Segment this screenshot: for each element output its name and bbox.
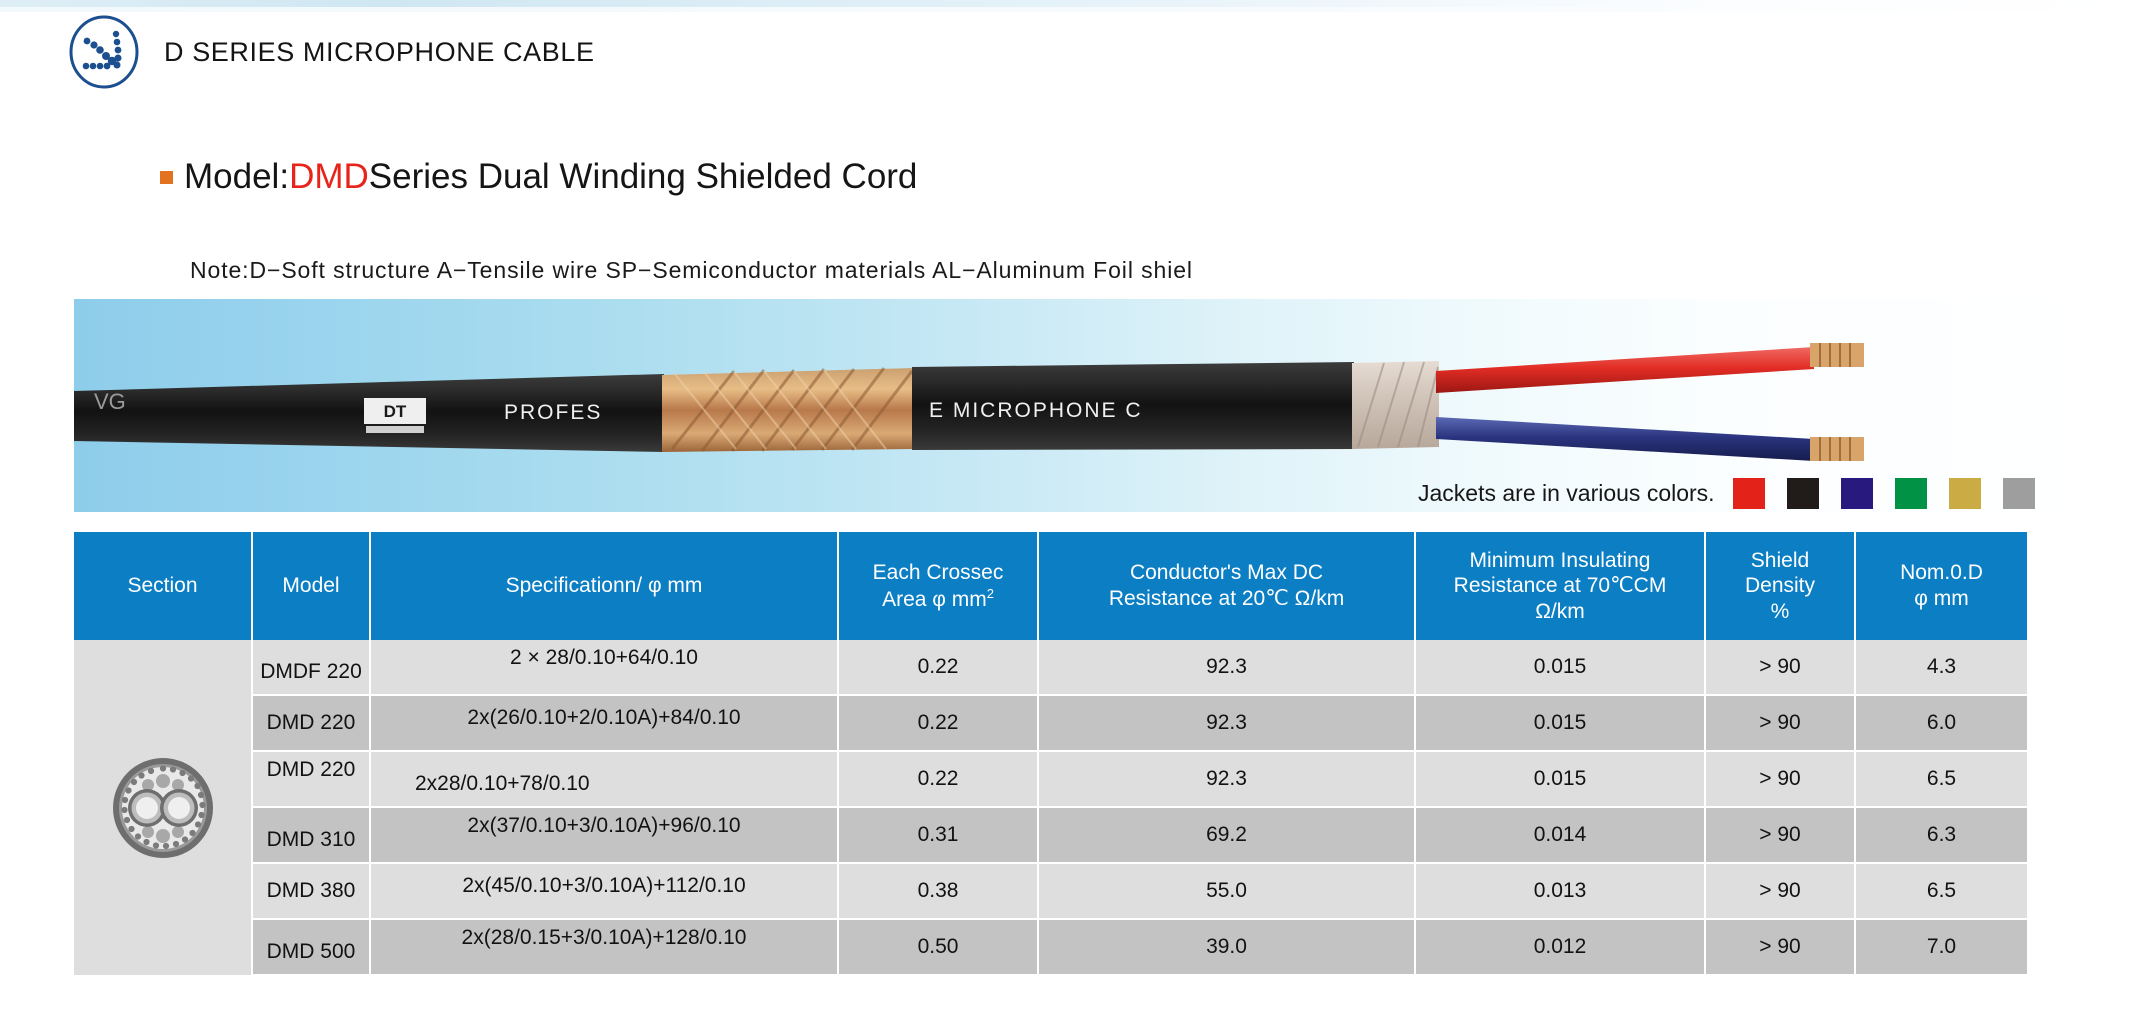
jacket-colors-row: Jackets are in various colors. (1418, 478, 2035, 509)
table-row: DMD 310 2x(37/0.10+3/0.10A)+96/0.10 0.31… (74, 807, 2027, 863)
cell-dcres: 92.3 (1038, 640, 1415, 695)
cell-area: 0.22 (838, 751, 1038, 807)
jackets-label: Jackets are in various colors. (1418, 480, 1715, 507)
cell-area: 0.38 (838, 863, 1038, 919)
cell-model: DMDF 220 (252, 640, 370, 695)
col-header-shield-density-l2: Density (1745, 574, 1815, 597)
top-accent-band-fade (0, 7, 2140, 12)
cell-model: DMD 380 (252, 863, 370, 919)
cell-shield: > 90 (1705, 640, 1855, 695)
cell-area: 0.31 (838, 807, 1038, 863)
col-header-crossec-area-sup: 2 (987, 586, 994, 601)
cable-text-left: PROFES (504, 401, 602, 424)
table-row: DMD 220 2x(26/0.10+2/0.10A)+84/0.10 0.22… (74, 695, 2027, 751)
cell-shield: > 90 (1705, 863, 1855, 919)
cell-spec-text: 2x28/0.10+78/0.10 (415, 772, 590, 796)
cell-model-text: DMDF 220 (260, 660, 362, 684)
col-header-shield-density-l3: % (1771, 600, 1790, 623)
cell-od: 6.5 (1855, 751, 2027, 807)
col-header-crossec-area-l1: Each Crossec (873, 561, 1004, 584)
cell-spec-text: 2x(28/0.15+3/0.10A)+128/0.10 (462, 926, 747, 950)
swatch-black (1787, 478, 1819, 509)
cell-insres: 0.014 (1415, 807, 1705, 863)
cell-model: DMD 220 (252, 695, 370, 751)
col-header-insulating-resistance-l1: Minimum Insulating (1470, 549, 1651, 572)
cell-shield: > 90 (1705, 695, 1855, 751)
model-prefix: Model: (184, 157, 289, 197)
col-header-insulating-resistance-l2: Resistance at 70℃CM (1454, 574, 1667, 597)
cell-dcres: 39.0 (1038, 919, 1415, 975)
model-suffix: Series Dual Winding Shielded Cord (369, 157, 918, 197)
cell-spec: 2 × 28/0.10+64/0.10 (370, 640, 838, 695)
cell-shield: > 90 (1705, 807, 1855, 863)
cell-insres: 0.015 (1415, 695, 1705, 751)
cell-area: 0.22 (838, 640, 1038, 695)
table-row: DMDF 220 2 × 28/0.10+64/0.10 0.22 92.3 0… (74, 640, 2027, 695)
cell-dcres: 92.3 (1038, 751, 1415, 807)
table-header-row: Section Model Specificationn/ φ mm Each … (74, 532, 2027, 640)
col-header-model: Model (252, 532, 370, 640)
cell-model: DMD 220 (252, 751, 370, 807)
cell-spec: 2x28/0.10+78/0.10 (370, 751, 838, 807)
cell-model-text: DMD 500 (267, 940, 356, 964)
cell-model: DMD 500 (252, 919, 370, 975)
swatch-purple (1841, 478, 1873, 509)
color-swatch-list (1733, 478, 2035, 509)
cable-text-right: E MICROPHONE C (929, 399, 1143, 422)
cell-od: 6.5 (1855, 863, 2027, 919)
table-row: DMD 220 2x28/0.10+78/0.10 0.22 92.3 0.01… (74, 751, 2027, 807)
col-header-dc-resistance: Conductor's Max DC Resistance at 20℃ Ω/k… (1038, 532, 1415, 640)
cell-area: 0.50 (838, 919, 1038, 975)
page-header: D SERIES MICROPHONE CABLE (66, 14, 595, 90)
col-header-nominal-od-l1: Nom.0.D (1900, 561, 1983, 584)
cell-od: 4.3 (1855, 640, 2027, 695)
cell-od: 6.3 (1855, 807, 2027, 863)
table-body: DMDF 220 2 × 28/0.10+64/0.10 0.22 92.3 0… (74, 640, 2027, 975)
cell-spec-text: 2x(26/0.10+2/0.10A)+84/0.10 (467, 706, 740, 730)
cell-spec: 2x(28/0.15+3/0.10A)+128/0.10 (370, 919, 838, 975)
col-header-dc-resistance-l1: Conductor's Max DC (1130, 561, 1323, 584)
cell-insres: 0.013 (1415, 863, 1705, 919)
cable-text-far-left: VG (94, 389, 126, 414)
cell-area: 0.22 (838, 695, 1038, 751)
col-header-crossec-area: Each Crossec Area φ mm2 (838, 532, 1038, 640)
table-row: DMD 500 2x(28/0.15+3/0.10A)+128/0.10 0.5… (74, 919, 2027, 975)
cell-model-text: DMD 220 (267, 758, 356, 782)
cell-spec-text: 2 × 28/0.10+64/0.10 (510, 646, 698, 670)
swatch-red (1733, 478, 1765, 509)
cell-shield: > 90 (1705, 919, 1855, 975)
top-accent-band (0, 0, 2140, 7)
cell-spec: 2x(37/0.10+3/0.10A)+96/0.10 (370, 807, 838, 863)
cell-insres: 0.012 (1415, 919, 1705, 975)
col-header-crossec-area-l2: Area φ mm (882, 588, 987, 611)
col-header-nominal-od: Nom.0.D φ mm (1855, 532, 2027, 640)
swatch-gold (1949, 478, 1981, 509)
specification-table: Section Model Specificationn/ φ mm Each … (74, 532, 2027, 976)
dotted-check-circle-logo (66, 14, 142, 90)
col-header-shield-density-l1: Shield (1751, 549, 1809, 572)
col-header-shield-density: Shield Density % (1705, 532, 1855, 640)
cell-od: 7.0 (1855, 919, 2027, 975)
cell-model-text: DMD 310 (267, 828, 356, 852)
square-bullet-icon (160, 171, 173, 184)
table-row: DMD 380 2x(45/0.10+3/0.10A)+112/0.10 0.3… (74, 863, 2027, 919)
cell-spec: 2x(45/0.10+3/0.10A)+112/0.10 (370, 863, 838, 919)
cell-insres: 0.015 (1415, 640, 1705, 695)
col-header-section: Section (74, 532, 252, 640)
cell-spec: 2x(26/0.10+2/0.10A)+84/0.10 (370, 695, 838, 751)
cable-cross-section-icon (74, 640, 252, 975)
col-header-nominal-od-l2: φ mm (1914, 587, 1968, 610)
cell-spec-text: 2x(37/0.10+3/0.10A)+96/0.10 (467, 814, 740, 838)
swatch-green (1895, 478, 1927, 509)
col-header-dc-resistance-l2: Resistance at 20℃ Ω/km (1109, 587, 1344, 610)
cell-spec-text: 2x(45/0.10+3/0.10A)+112/0.10 (462, 874, 745, 898)
col-header-insulating-resistance: Minimum Insulating Resistance at 70℃CM Ω… (1415, 532, 1705, 640)
col-header-specification: Specificationn/ φ mm (370, 532, 838, 640)
cell-model: DMD 310 (252, 807, 370, 863)
model-accent: DMD (289, 157, 369, 197)
model-heading: Model: DMD Series Dual Winding Shielded … (160, 157, 917, 197)
page-title: D SERIES MICROPHONE CABLE (164, 37, 595, 68)
cell-dcres: 92.3 (1038, 695, 1415, 751)
cell-dcres: 55.0 (1038, 863, 1415, 919)
cell-od: 6.0 (1855, 695, 2027, 751)
cable-brand-mark: DT (384, 402, 407, 421)
col-header-insulating-resistance-l3: Ω/km (1535, 600, 1585, 623)
cell-dcres: 69.2 (1038, 807, 1415, 863)
swatch-gray (2003, 478, 2035, 509)
note-text: Note:D−Soft structure A−Tensile wire SP−… (190, 257, 1193, 284)
cell-shield: > 90 (1705, 751, 1855, 807)
cell-insres: 0.015 (1415, 751, 1705, 807)
